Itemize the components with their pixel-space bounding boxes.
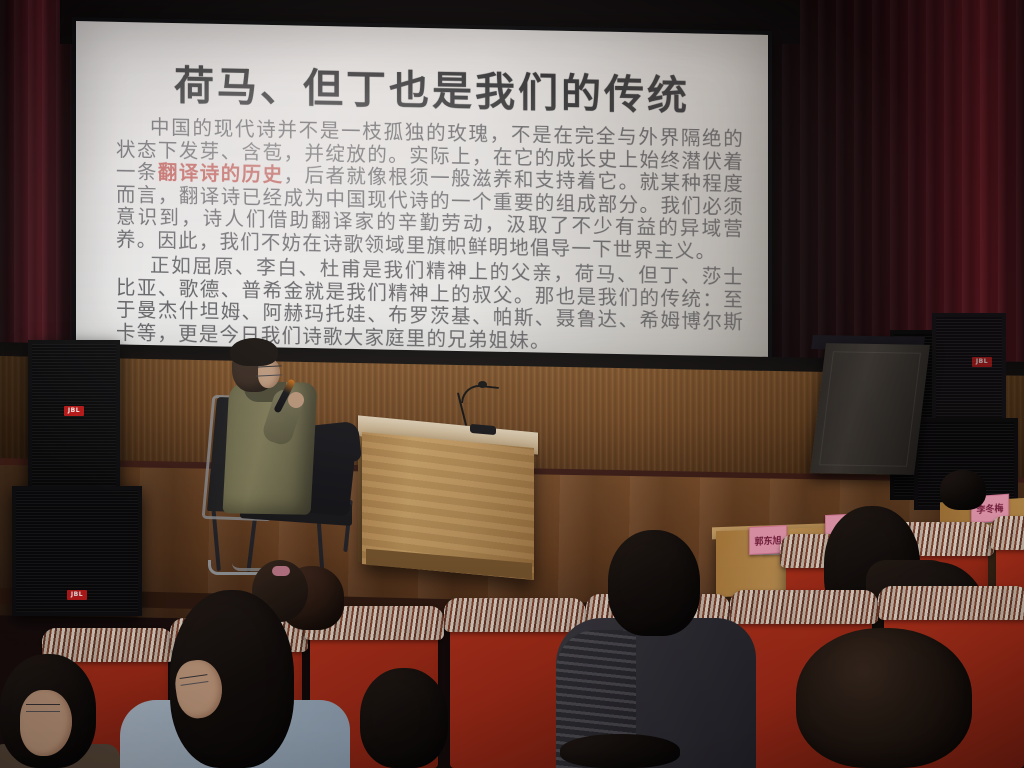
cart-panel [819,351,921,467]
speaker-hand [288,392,304,408]
eyeglasses-icon [256,365,282,376]
slide-content: 荷马、但丁也是我们的传统 中国的现代诗并不是一枝孤独的玫瑰，不是在完全与外界隔绝… [76,21,768,367]
audience-head [608,530,700,636]
pa-speaker-top-left: JBL [28,340,120,490]
speaker-hair [230,338,278,366]
slide-highlight-phrase: 翻译诗的历史 [158,161,284,187]
slide-paragraph-2: 正如屈原、李白、杜甫是我们精神上的父亲，荷马、但丁、莎士比亚、歌德、普希金就是我… [116,254,744,357]
jbl-logo-text-right: JBL [972,357,992,367]
jbl-logo-text-sub: JBL [67,590,87,600]
audience-head [560,734,680,768]
seat-headrest [990,516,1024,550]
speaker-grill-right [936,317,1002,419]
pa-subwoofer-left: JBL [12,486,142,616]
gooseneck-mic-head-icon [478,381,487,388]
seat-headrest [730,590,878,624]
jbl-logo-badge-right: JBL [972,357,992,367]
seat-headrest [878,586,1024,620]
slide-paragraph-1: 中国的现代诗并不是一枝孤独的玫瑰，不是在完全与外界隔绝的状态下发芽、含苞，并绽放… [116,116,744,264]
slide-title: 荷马、但丁也是我们的传统 [110,52,754,123]
auditorium-lecture-photo: 荷马、但丁也是我们的传统 中国的现代诗并不是一枝孤独的玫瑰，不是在完全与外界隔绝… [0,0,1024,768]
audience-head [940,470,986,510]
audience-head [796,628,972,768]
eyeglasses-icon [26,704,60,712]
seat-headrest [444,598,586,632]
projection-screen: 荷马、但丁也是我们的传统 中国的现代诗并不是一枝孤独的玫瑰，不是在完全与外界隔绝… [76,21,768,367]
jbl-logo-badge-sub: JBL [67,590,87,600]
equipment-cart [810,343,930,475]
pa-speaker-top-right: JBL [932,313,1006,423]
hair-tie [272,566,290,576]
jbl-logo-badge: JBL [64,406,84,416]
audience-head [360,668,448,768]
jbl-logo-text: JBL [64,406,84,416]
